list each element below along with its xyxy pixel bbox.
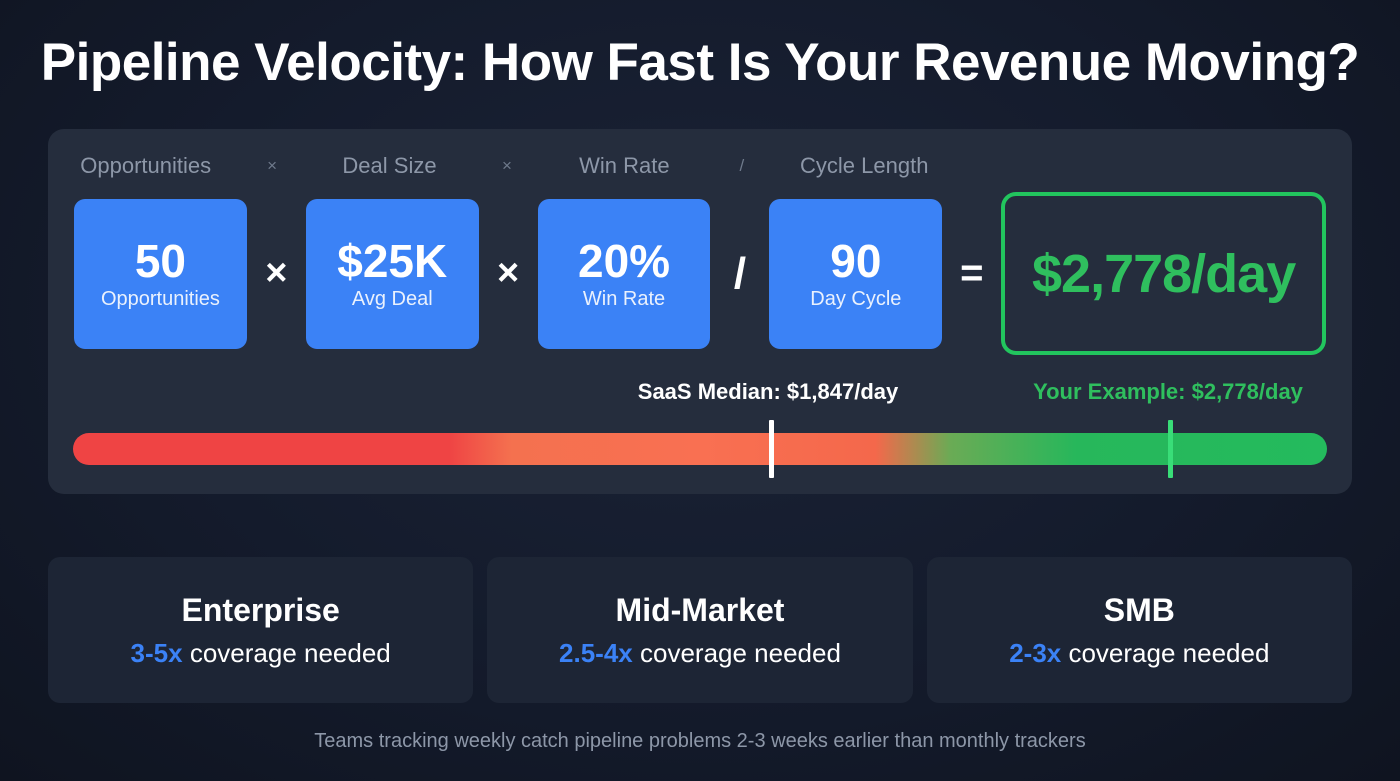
result-value-velocity: $2,778/day — [1032, 243, 1295, 305]
metric-label-opportunities: Opportunities — [101, 288, 220, 310]
operator-divide: / — [710, 249, 769, 299]
velocity-benchmark-bar — [73, 433, 1327, 465]
footer-note: Teams tracking weekly catch pipeline pro… — [0, 730, 1400, 753]
operator-equals: = — [942, 251, 1001, 296]
segment-cards: Enterprise 3-5x coverage needed Mid-Mark… — [48, 557, 1352, 703]
segment-multiple-smb: 2-3x — [1009, 638, 1061, 668]
velocity-formula-panel: Opportunities × Deal Size × Win Rate / C… — [48, 129, 1352, 494]
segment-card-mid-market: Mid-Market 2.5-4x coverage needed — [487, 557, 912, 703]
marker-saas-median — [769, 420, 774, 478]
metric-label-win-rate: Win Rate — [583, 288, 665, 310]
segment-detail-mid-market: 2.5-4x coverage needed — [559, 638, 841, 669]
segment-coverage-text-smb: coverage needed — [1061, 638, 1269, 668]
metric-box-opportunities: 50 Opportunities — [74, 199, 247, 349]
segment-name-smb: SMB — [1104, 592, 1175, 629]
header-label-deal-size: Deal Size — [301, 153, 479, 179]
header-label-cycle-length: Cycle Length — [770, 153, 958, 179]
metric-box-win-rate: 20% Win Rate — [538, 199, 711, 349]
metric-label-deal-size: Avg Deal — [352, 288, 433, 310]
benchmark-labels: SaaS Median: $1,847/day Your Example: $2… — [48, 379, 1352, 409]
segment-detail-smb: 2-3x coverage needed — [1009, 638, 1269, 669]
header-label-win-rate: Win Rate — [536, 153, 714, 179]
benchmark-yours-label: Your Example: $2,778/day — [1023, 379, 1313, 405]
segment-coverage-text-mid-market: coverage needed — [633, 638, 841, 668]
infographic-page: Pipeline Velocity: How Fast Is Your Reve… — [0, 0, 1400, 781]
header-operator-multiply-2: × — [478, 156, 535, 176]
marker-your-example — [1168, 420, 1173, 478]
page-title: Pipeline Velocity: How Fast Is Your Reve… — [0, 34, 1400, 92]
segment-coverage-text-enterprise: coverage needed — [183, 638, 391, 668]
benchmark-median-label: SaaS Median: $1,847/day — [623, 379, 913, 405]
metric-value-win-rate: 20% — [578, 237, 670, 285]
segment-card-smb: SMB 2-3x coverage needed — [927, 557, 1352, 703]
segment-name-enterprise: Enterprise — [182, 592, 340, 629]
metric-value-deal-size: $25K — [337, 237, 447, 285]
segment-multiple-mid-market: 2.5-4x — [559, 638, 633, 668]
metric-value-opportunities: 50 — [135, 237, 186, 285]
header-label-opportunities: Opportunities — [48, 153, 243, 179]
operator-multiply-1: × — [247, 252, 306, 295]
operator-multiply-2: × — [479, 252, 538, 295]
segment-detail-enterprise: 3-5x coverage needed — [131, 638, 391, 669]
metric-box-deal-size: $25K Avg Deal — [306, 199, 479, 349]
formula-header-labels: Opportunities × Deal Size × Win Rate / C… — [48, 151, 958, 181]
segment-card-enterprise: Enterprise 3-5x coverage needed — [48, 557, 473, 703]
metric-value-day-cycle: 90 — [830, 237, 881, 285]
segment-name-mid-market: Mid-Market — [616, 592, 785, 629]
segment-multiple-enterprise: 3-5x — [131, 638, 183, 668]
header-operator-divide: / — [713, 156, 770, 176]
metric-label-day-cycle: Day Cycle — [810, 288, 901, 310]
formula-boxes-row: 50 Opportunities × $25K Avg Deal × 20% W… — [74, 196, 1326, 351]
metric-box-day-cycle: 90 Day Cycle — [769, 199, 942, 349]
header-operator-multiply-1: × — [243, 156, 300, 176]
gradient-track — [73, 433, 1327, 465]
result-box-velocity: $2,778/day — [1001, 192, 1326, 355]
